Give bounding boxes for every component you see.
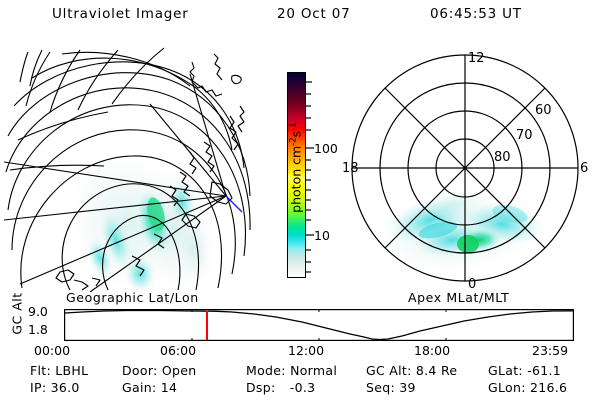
status-dsp-label: Dsp: (246, 380, 275, 395)
mlat-label-70: 70 (516, 128, 533, 143)
status-glon-label: GLon: (488, 380, 526, 395)
altitude-tick-max: 9.0 (28, 304, 48, 319)
status-gcalt: GC Alt: 8.4 Re (366, 363, 457, 378)
status-glat: GLat: -61.1 (488, 363, 561, 378)
colorbar-tick-100: 100 (314, 141, 338, 156)
status-seq: Seq: 39 (366, 380, 416, 395)
time-tick-0: 00:00 (34, 343, 70, 358)
mlt-spokes (352, 55, 578, 281)
status-mode-label: Mode: (246, 363, 286, 378)
status-door: Door: Open (122, 363, 196, 378)
status-ip-value: 36.0 (51, 380, 80, 395)
colorbar-unit-prefix: photon cm (289, 146, 304, 213)
colorbar-tick-10: 10 (314, 228, 330, 243)
status-door-label: Door: (122, 363, 158, 378)
status-flt-label: Flt: (30, 363, 51, 378)
status-flt: Flt: LBHL (30, 363, 88, 378)
observation-time: 06:45:53 UT (430, 6, 522, 22)
status-gain-label: Gain: (122, 380, 156, 395)
header-bar: Ultraviolet Imager 20 Oct 07 06:45:53 UT (0, 4, 600, 26)
status-mode-value: Normal (290, 363, 337, 378)
instrument-title: Ultraviolet Imager (52, 6, 189, 22)
status-glon: GLon: 216.6 (488, 380, 567, 395)
colorbar-unit-label: photon cm-2s-1 (288, 68, 303, 268)
mlat-label-60: 60 (535, 103, 552, 118)
status-gain: Gain: 14 (122, 380, 177, 395)
altitude-time-strip[interactable]: GC Alt 9.0 1.8 00:00 06:00 12:00 18:00 2… (0, 300, 600, 352)
status-gain-value: 14 (161, 380, 178, 395)
geographic-image-panel[interactable] (4, 44, 266, 292)
altitude-tick-min: 1.8 (28, 322, 48, 337)
status-mode: Mode: Normal (246, 363, 337, 378)
status-gcalt-label: GC Alt: (366, 363, 412, 378)
time-tick-3: 18:00 (414, 343, 450, 358)
status-glon-value: 216.6 (530, 380, 567, 395)
colorbar-unit-exp1: -2 (288, 137, 298, 145)
altitude-plot[interactable] (64, 309, 574, 341)
status-ip-label: IP: (30, 380, 46, 395)
status-ip: IP: 36.0 (30, 380, 80, 395)
altitude-axis-label: GC Alt (10, 283, 25, 345)
status-seq-label: Seq: (366, 380, 395, 395)
colorbar-unit-mid: s (289, 131, 304, 138)
status-gcalt-value: 8.4 Re (416, 363, 457, 378)
time-tick-4: 23:59 (532, 343, 568, 358)
status-seq-value: 39 (399, 380, 416, 395)
observation-date: 20 Oct 07 (277, 6, 350, 22)
mlat-label-80: 80 (494, 150, 511, 165)
status-dsp-value: -0.3 (290, 380, 316, 395)
status-glat-value: -61.1 (527, 363, 561, 378)
geo-terminator-marker (226, 196, 242, 212)
time-tick-2: 12:00 (288, 343, 324, 358)
status-dsp: Dsp: -0.3 (246, 380, 315, 395)
colorbar-unit-exp2: -1 (288, 122, 298, 130)
mlt-label-12: 12 (468, 51, 485, 66)
status-glat-label: GLat: (488, 363, 523, 378)
apex-mlt-panel[interactable]: 12 6 0 18 60 70 80 (334, 44, 596, 292)
status-flt-value: LBHL (55, 363, 88, 378)
status-door-value: Open (162, 363, 197, 378)
time-tick-1: 06:00 (160, 343, 196, 358)
mlt-aurora-emission (367, 178, 553, 286)
status-block: Flt: LBHL Door: Open Mode: Normal GC Alt… (0, 362, 600, 400)
colorbar[interactable]: 100 10 photon cm-2s-1 (262, 60, 336, 292)
mlt-label-6: 6 (580, 161, 588, 176)
mlt-label-18: 18 (342, 161, 359, 176)
